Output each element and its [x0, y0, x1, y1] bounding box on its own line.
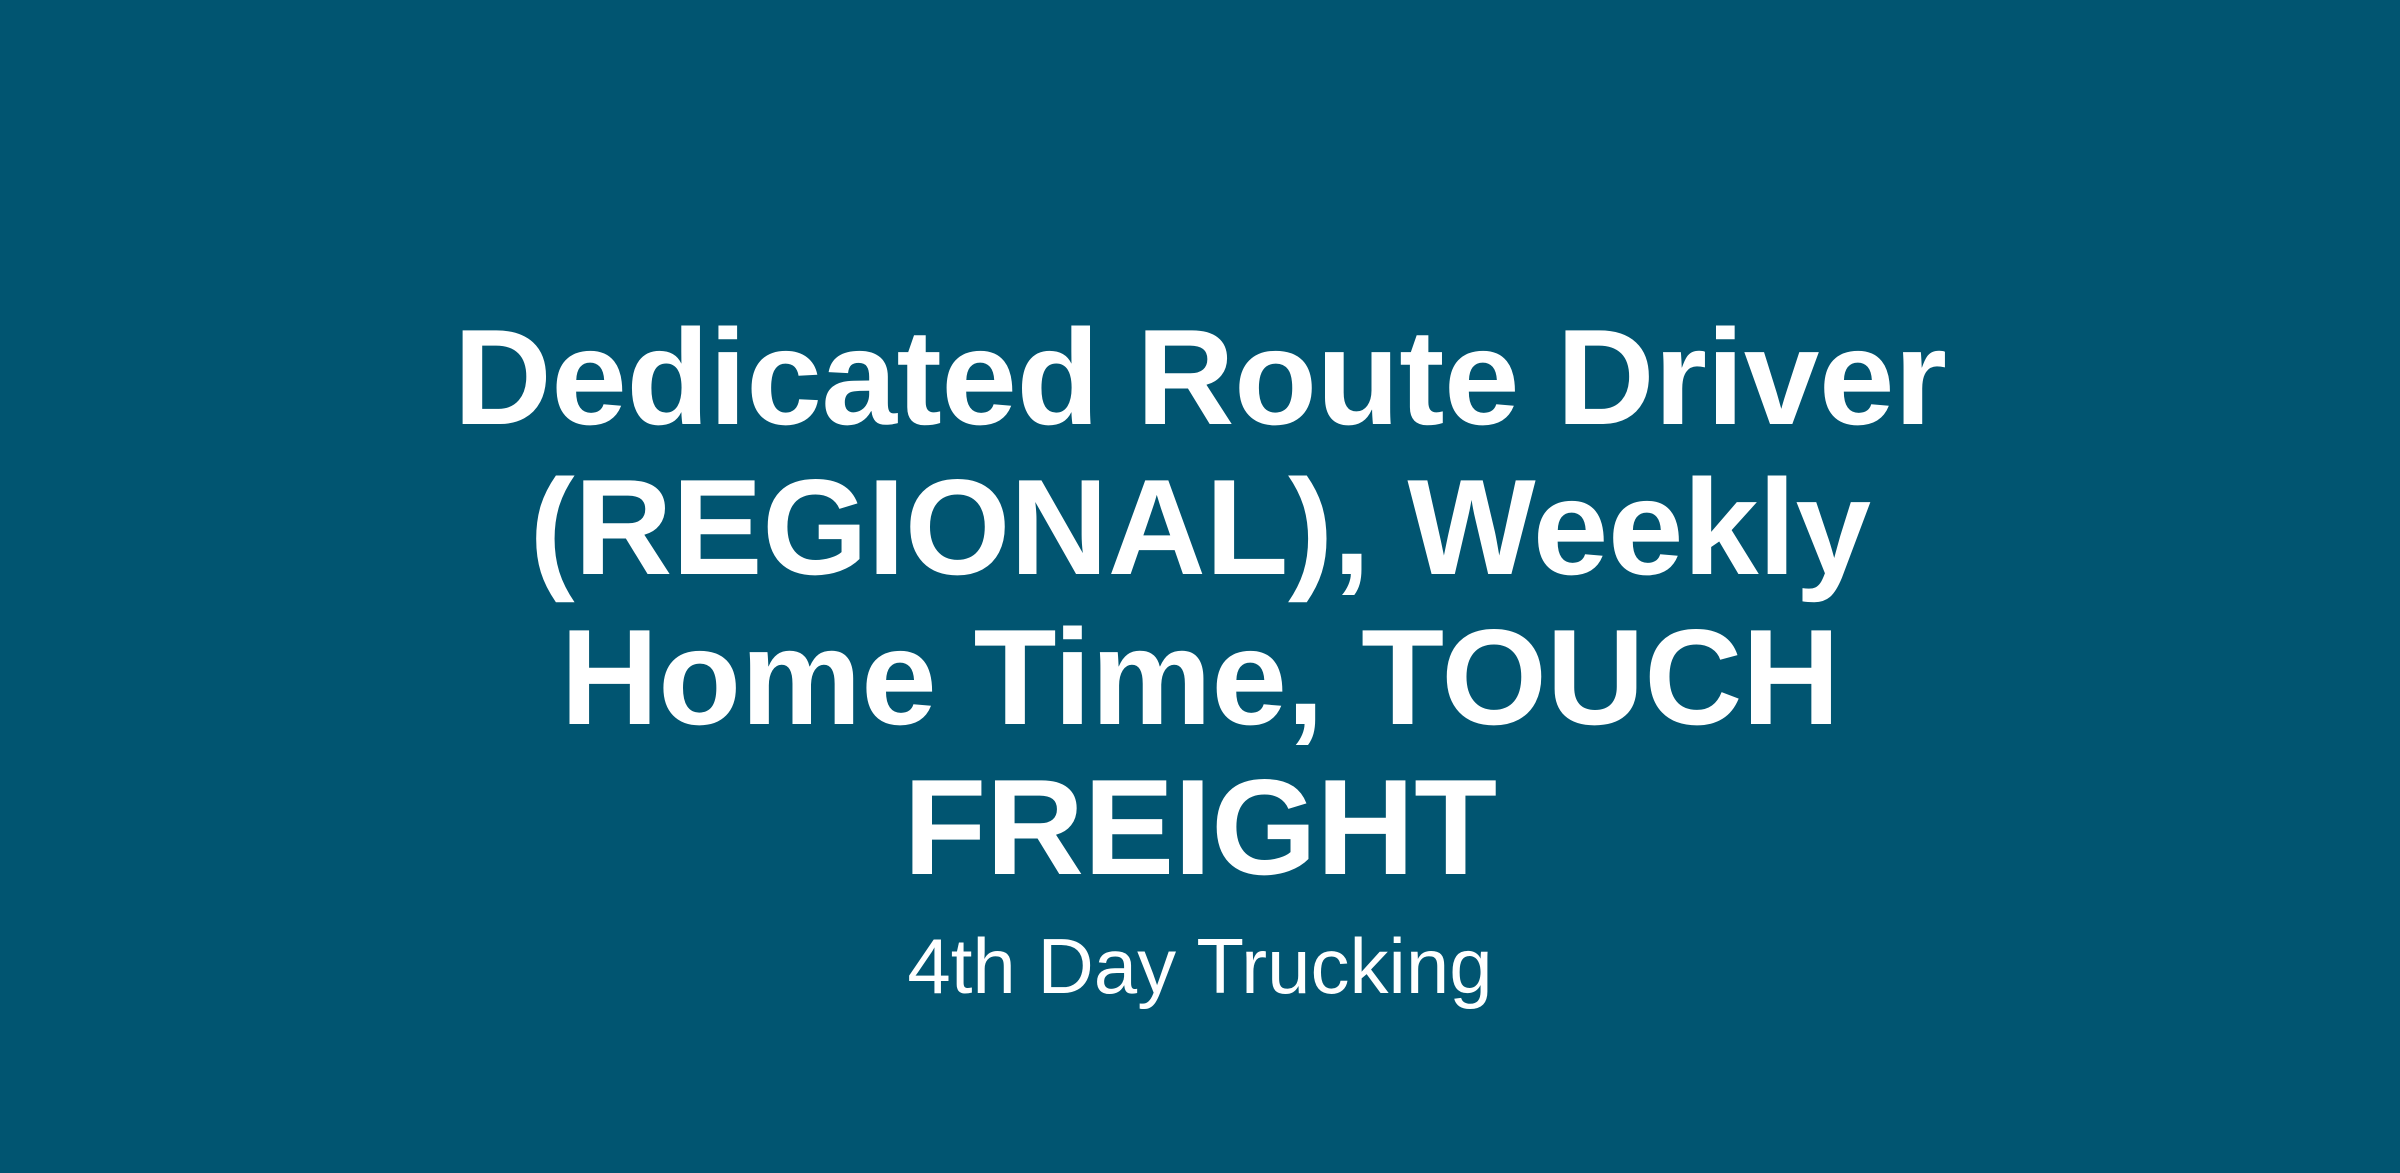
job-share-card: Dedicated Route Driver (REGIONAL), Weekl…	[0, 0, 2400, 1173]
card-content: Dedicated Route Driver (REGIONAL), Weekl…	[0, 0, 2400, 1012]
company-name: 4th Day Trucking	[907, 920, 1492, 1012]
job-title: Dedicated Route Driver (REGIONAL), Weekl…	[400, 302, 2000, 902]
